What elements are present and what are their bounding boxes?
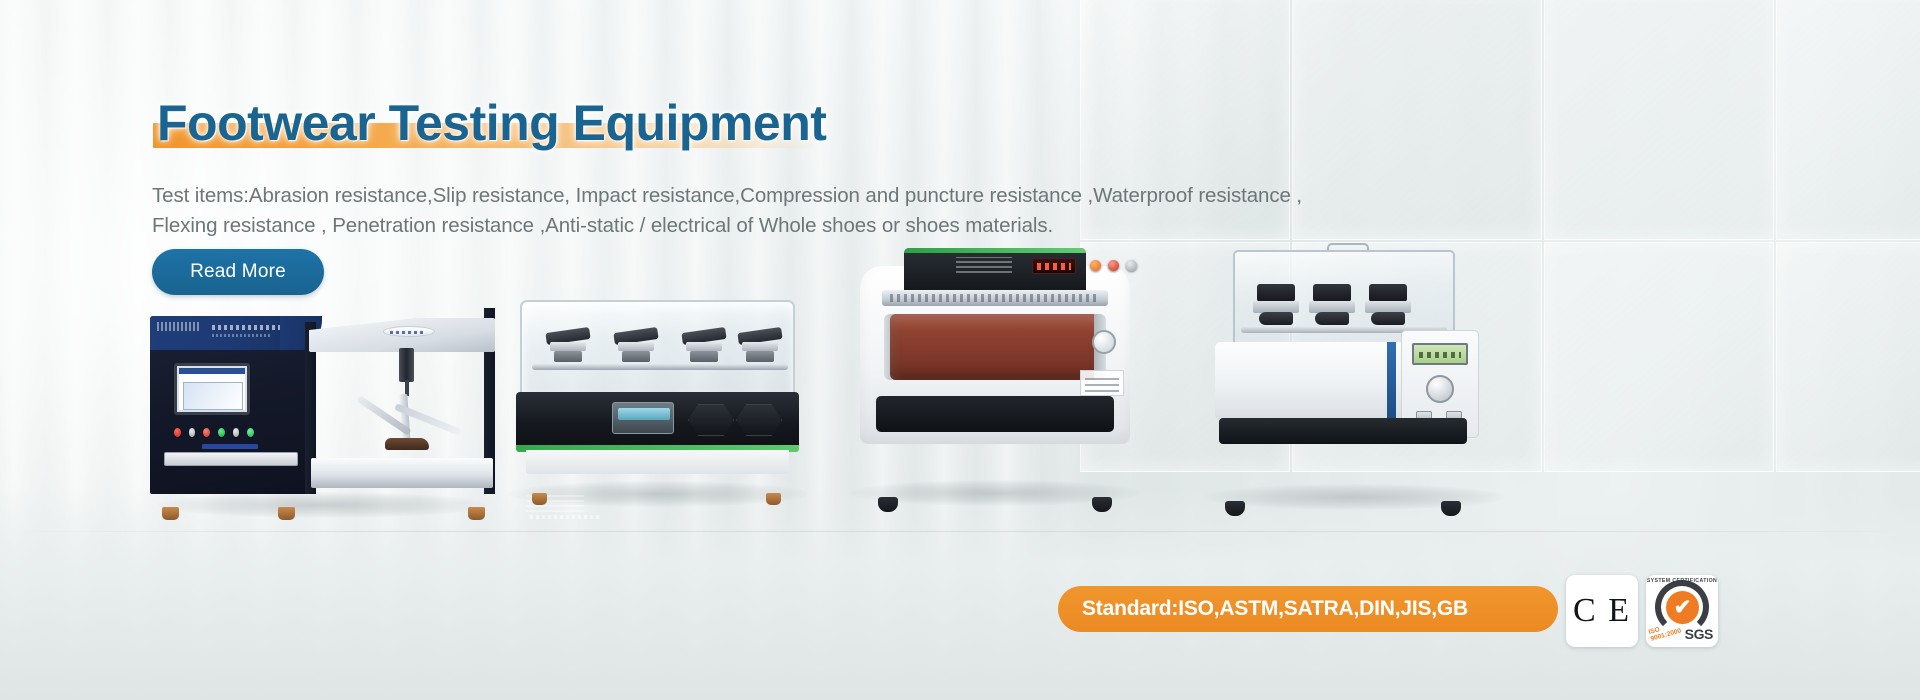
start-button	[218, 428, 225, 437]
certification-logos: C E SYSTEM CERTIFICATION ✔ ISO 9001:2000…	[1566, 575, 1718, 647]
specimen-clamp	[614, 330, 658, 364]
drive-rail	[532, 364, 788, 370]
clamp-jaw-mid	[550, 342, 586, 351]
clamp-jaw-mid	[742, 342, 778, 351]
control-knob	[1426, 375, 1454, 403]
product-shadow	[158, 492, 488, 518]
shoe-test-rig	[371, 394, 447, 456]
machine-top-control-deck	[904, 248, 1086, 292]
transparent-safety-hood	[520, 300, 795, 396]
machine-foot	[1225, 501, 1245, 516]
control-knob	[1090, 260, 1101, 271]
brand-logo-mark	[956, 257, 1012, 273]
control-knob	[1108, 260, 1119, 271]
machine-drawer	[164, 452, 298, 466]
machine-test-frame	[305, 308, 495, 494]
accent-stripe	[904, 248, 1086, 253]
clamp-bar	[882, 290, 1108, 306]
footwear-testing-banner: Footwear Testing Equipment Test items:Ab…	[0, 0, 1920, 700]
machine-button-row	[174, 428, 254, 437]
control-knob	[1126, 260, 1137, 271]
specimen-clamp	[682, 330, 726, 364]
actuator-ram	[399, 348, 414, 382]
machine-touchscreen	[174, 363, 250, 415]
control-button	[189, 428, 196, 437]
machine-foot	[162, 507, 179, 520]
machine-cabinet	[150, 316, 312, 494]
shoe-sample	[1371, 312, 1405, 325]
product-image-whole-shoe-flexing-testing-machine[interactable]	[150, 308, 495, 508]
clamp-jaw-bottom	[622, 351, 650, 362]
machine-foot	[1092, 497, 1112, 512]
station-head	[1369, 284, 1407, 302]
cabinet-header-panel	[150, 316, 312, 350]
frame-base-platform	[311, 458, 493, 488]
control-button	[247, 428, 254, 437]
flex-test-station	[1365, 284, 1411, 326]
machine-base	[876, 396, 1114, 432]
accent-stripe	[1387, 342, 1396, 420]
rig-arm	[399, 394, 410, 444]
sgs-certification-logo: SYSTEM CERTIFICATION ✔ ISO 9001:2000 SGS	[1646, 575, 1718, 647]
sgs-top-text: SYSTEM CERTIFICATION	[1646, 578, 1718, 584]
clamp-jaw-bottom	[554, 351, 582, 362]
status-badge: Standard:ISO,ASTM,SATRA,DIN,JIS,GB	[1058, 586, 1558, 632]
lcd-display	[1412, 343, 1468, 365]
tension-dial	[1092, 330, 1116, 354]
shoe-sample	[1315, 312, 1349, 325]
specimen-clamp	[546, 330, 590, 364]
product-image-shoe-flexing-tester-with-guard[interactable]	[1205, 250, 1505, 502]
flex-test-station	[1253, 284, 1299, 326]
check-icon: ✔	[1674, 597, 1692, 618]
machine-foot	[878, 497, 898, 512]
machine-foot	[278, 507, 295, 520]
station-head	[1313, 284, 1351, 302]
ce-mark-logo: C E	[1566, 575, 1638, 647]
machine-spec-label	[1080, 370, 1124, 396]
clamp-jaw-mid	[618, 342, 654, 351]
ce-mark-icon: C E	[1573, 592, 1631, 630]
machine-nameplate	[202, 444, 258, 449]
clamp-jaw-bottom	[690, 351, 718, 362]
control-panel-display	[612, 402, 674, 434]
machine-foot	[766, 493, 781, 505]
machine-foot	[532, 493, 547, 505]
sgs-brand-text: SGS	[1685, 626, 1713, 642]
machine-foot	[468, 507, 485, 520]
brand-logo-mark	[157, 322, 201, 331]
shoe-sample	[385, 438, 429, 450]
specimen-clamp	[738, 330, 782, 364]
machine-model-text	[530, 515, 602, 519]
product-image-rotary-abrasion-tester[interactable]	[860, 248, 1130, 498]
machine-model-text	[212, 325, 282, 330]
sgs-icon: SYSTEM CERTIFICATION ✔ ISO 9001:2000 SGS	[1646, 575, 1718, 647]
machine-model-subtext	[212, 334, 270, 337]
machine-foot	[1441, 501, 1461, 516]
clamp-jaw-mid	[686, 342, 722, 351]
digital-counter-display	[1032, 258, 1076, 274]
product-image-sole-bending-flexing-tester[interactable]	[520, 300, 795, 495]
machine-base	[526, 450, 789, 474]
abrasive-roller	[890, 314, 1102, 380]
clamp-jaw-bottom	[746, 351, 774, 362]
machine-base	[1219, 418, 1467, 444]
control-button	[203, 428, 210, 437]
shoe-sample	[1259, 312, 1293, 325]
emergency-stop-button	[174, 428, 181, 437]
control-button	[233, 428, 240, 437]
frame-brand-plate	[383, 326, 435, 337]
flex-test-station	[1309, 284, 1355, 326]
station-head	[1257, 284, 1295, 302]
